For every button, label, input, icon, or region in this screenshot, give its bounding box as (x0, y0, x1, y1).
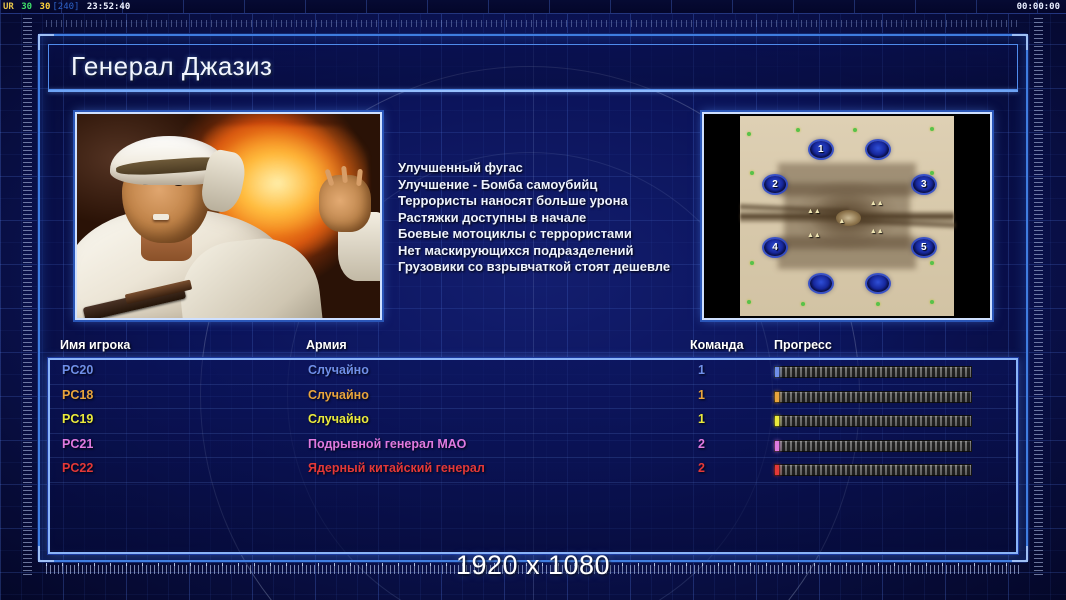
ruler-left (23, 18, 32, 578)
player-progress-fill (775, 367, 779, 377)
minimap-marker: ▲▲ (870, 200, 884, 207)
player-army: Подрывной генерал МАО (308, 437, 466, 451)
table-row[interactable]: PC20Случайно1 (50, 360, 1016, 385)
minimap-start-position-empty[interactable] (810, 275, 832, 292)
minimap-marker: ▲ (838, 218, 845, 225)
minimap-resource (876, 302, 880, 306)
player-name: PC18 (62, 388, 93, 402)
player-list-panel: PC20Случайно1PC18Случайно1PC19Случайно1P… (48, 358, 1018, 554)
bonus-item: Улучшенный фугас (398, 160, 698, 177)
title-panel: Генерал Джазиз (48, 44, 1018, 90)
player-progress-fill (775, 392, 779, 402)
table-row[interactable]: PC19Случайно1 (50, 409, 1016, 434)
player-progress-bar (774, 415, 972, 427)
minimap-marker: ▲▲ (870, 228, 884, 235)
player-progress-bar (774, 464, 972, 476)
minimap-resource (750, 261, 754, 265)
portrait-artwork (77, 114, 380, 318)
player-progress-bar (774, 366, 972, 378)
player-army: Ядерный китайский генерал (308, 461, 485, 475)
map-preview: 1 2 3 4 5 ▲▲ ▲▲ (702, 112, 992, 320)
bonus-item: Нет маскирующихся подразделений (398, 243, 698, 260)
page-title: Генерал Джазиз (71, 51, 272, 82)
top-status-right-clock: 00:00:00 (1017, 0, 1060, 14)
top-status-bracket: [240] (51, 2, 80, 12)
table-header-row: Имя игрока Армия Команда Прогресс (48, 338, 1018, 358)
bonus-list: Улучшенный фугас Улучшение - Бомба самоу… (398, 160, 698, 276)
player-progress-fill (775, 416, 779, 426)
portrait-mouth (153, 214, 169, 220)
top-status-num1: 30 (20, 2, 33, 12)
table-row[interactable]: PC22Ядерный китайский генерал2 (50, 458, 1016, 483)
top-status-left: UR 30 30[240] 23:52:40 (2, 0, 131, 14)
minimap-artwork: 1 2 3 4 5 ▲▲ ▲▲ (704, 114, 990, 318)
player-rows: PC20Случайно1PC18Случайно1PC19Случайно1P… (50, 360, 1016, 483)
minimap-resource (930, 300, 934, 304)
player-team: 1 (698, 363, 705, 377)
player-name: PC19 (62, 412, 93, 426)
title-divider (48, 90, 1018, 92)
top-status-strip: UR 30 30[240] 23:52:40 00:00:00 (0, 0, 1066, 14)
minimap-resource (853, 128, 857, 132)
column-header-army: Армия (306, 338, 347, 352)
column-header-team: Команда (690, 338, 744, 352)
top-status-label: UR (2, 2, 15, 12)
player-army: Случайно (308, 388, 369, 402)
minimap-resource (801, 302, 805, 306)
general-portrait (75, 112, 382, 320)
app-root: UR 30 30[240] 23:52:40 00:00:00 Генерал … (0, 0, 1066, 600)
minimap-resource (750, 171, 754, 175)
resolution-label: 1920 x 1080 (0, 550, 1066, 581)
column-header-progress: Прогресс (774, 338, 832, 352)
player-team: 1 (698, 412, 705, 426)
player-name: PC20 (62, 363, 93, 377)
minimap-start-position-empty[interactable] (867, 141, 889, 158)
player-army: Случайно (308, 412, 369, 426)
top-status-num2: 30 (39, 2, 52, 12)
player-name: PC22 (62, 461, 93, 475)
portrait-hand (319, 175, 371, 232)
minimap-start-position-3[interactable]: 3 (913, 176, 935, 193)
minimap-marker: ▲▲ (807, 208, 821, 215)
ruler-right (1034, 18, 1043, 578)
player-team: 2 (698, 461, 705, 475)
player-team: 1 (698, 388, 705, 402)
player-name: PC21 (62, 437, 93, 451)
column-header-player-name: Имя игрока (60, 338, 130, 352)
minimap-start-position-1[interactable]: 1 (810, 141, 832, 158)
minimap-resource (796, 128, 800, 132)
player-progress-bar (774, 391, 972, 403)
bonus-item: Улучшение - Бомба самоубийц (398, 177, 698, 194)
bonus-item: Растяжки доступны в начале (398, 210, 698, 227)
ruler-top (46, 20, 1020, 27)
bonus-item: Боевые мотоциклы с террористами (398, 226, 698, 243)
minimap-marker: ▲▲ (807, 232, 821, 239)
top-strip-ticks (0, 0, 1066, 14)
player-team: 2 (698, 437, 705, 451)
table-row[interactable]: PC21Подрывной генерал МАО2 (50, 434, 1016, 459)
media-row: Улучшенный фугас Улучшение - Бомба самоу… (48, 104, 1018, 334)
player-army: Случайно (308, 363, 369, 377)
minimap-resource (930, 261, 934, 265)
player-progress-bar (774, 440, 972, 452)
bonus-item: Грузовики со взрывчаткой стоят дешевле (398, 259, 698, 276)
player-progress-fill (775, 441, 779, 451)
table-row[interactable]: PC18Случайно1 (50, 385, 1016, 410)
minimap-resource (747, 300, 751, 304)
bonus-item: Террористы наносят больше урона (398, 193, 698, 210)
top-status-clock: 23:52:40 (86, 2, 131, 12)
player-progress-fill (775, 465, 779, 475)
